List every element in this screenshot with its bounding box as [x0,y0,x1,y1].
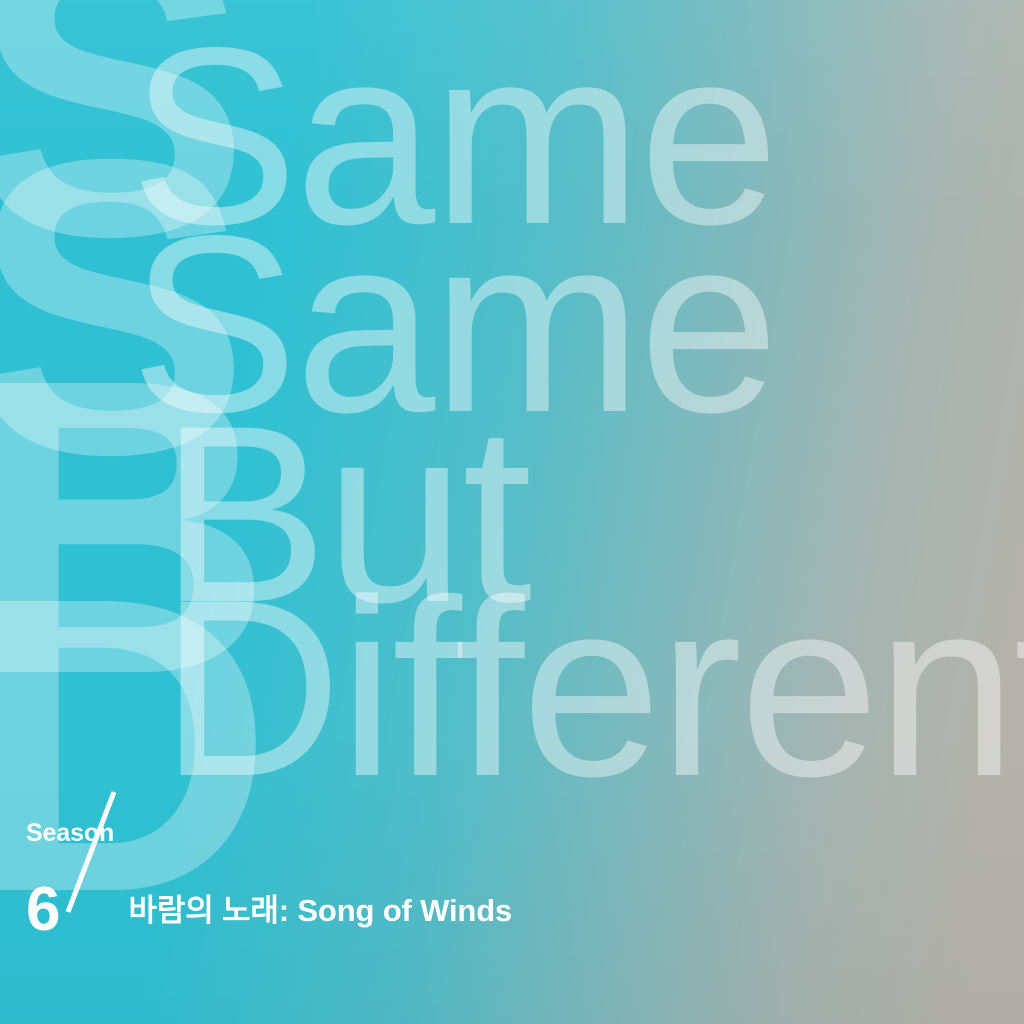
season-title-row: 6 바람의 노래: Song of Winds [26,858,512,928]
season-number: 6 [26,886,60,934]
headline-word-different: Different [160,586,1024,793]
album-cover: S S B D Same Same But Different Season 6… [0,0,1024,1024]
slash-divider-icon [62,816,122,928]
season-caption-block: Season 6 바람의 노래: Song of Winds [26,821,512,928]
season-title: 바람의 노래: Song of Winds [128,895,512,926]
